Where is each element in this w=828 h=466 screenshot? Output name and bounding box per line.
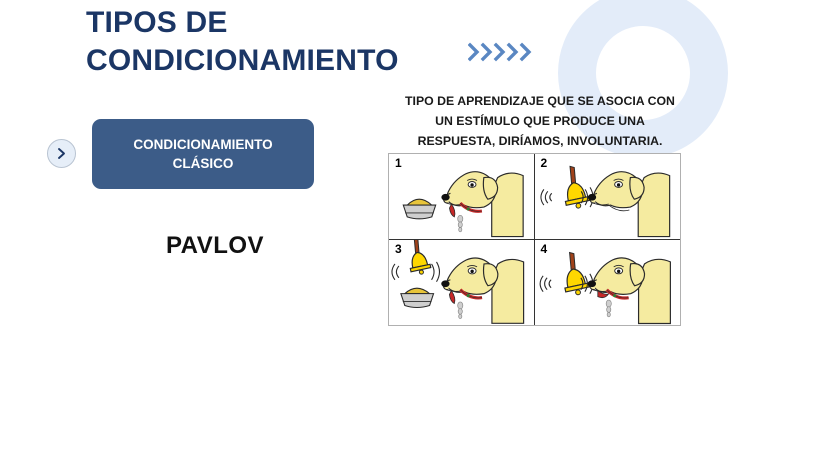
pavlov-comic-grid: 1 [388, 153, 681, 326]
author-name: PAVLOV [92, 232, 338, 260]
panel-3-illustration [389, 240, 534, 326]
chevron-right-icon [56, 147, 67, 160]
panel-number: 1 [395, 156, 402, 170]
panel-1-illustration [389, 154, 534, 239]
page-title: TIPOS DE CONDICIONAMIENTO [86, 4, 486, 80]
conditioning-type-label[interactable]: CONDICIONAMIENTO CLÁSICO [92, 119, 314, 189]
drool-drops [606, 300, 611, 317]
comic-panel-1: 1 [389, 154, 535, 240]
panel-number: 3 [395, 242, 402, 256]
comic-panel-2: 2 [535, 154, 681, 240]
chevrons-icon [468, 42, 536, 62]
comic-panel-4: 4 [535, 240, 681, 326]
dog-salivating-icon [587, 257, 670, 323]
panel-number: 4 [541, 242, 548, 256]
description-text: TIPO DE APRENDIZAJE QUE SE ASOCIA CON UN… [384, 91, 696, 151]
ringing-bell-icon [404, 240, 431, 276]
drool-drops [458, 301, 463, 318]
food-bowl-icon [401, 288, 434, 307]
panel-2-illustration [535, 154, 681, 239]
drool-drops [458, 215, 463, 232]
dog-salivating-icon [441, 258, 523, 323]
panel-number: 2 [541, 156, 548, 170]
dog-salivating-icon [441, 172, 523, 237]
panel-4-illustration [535, 240, 681, 326]
chevron-decoration [468, 42, 536, 62]
food-bowl-icon [403, 199, 435, 219]
next-slide-button[interactable] [47, 139, 76, 168]
comic-panel-3: 3 [389, 240, 535, 326]
dog-neutral-icon [587, 172, 669, 237]
slide-canvas: TIPOS DE CONDICIONAMIENTO CONDICIONAMIEN… [0, 0, 828, 466]
